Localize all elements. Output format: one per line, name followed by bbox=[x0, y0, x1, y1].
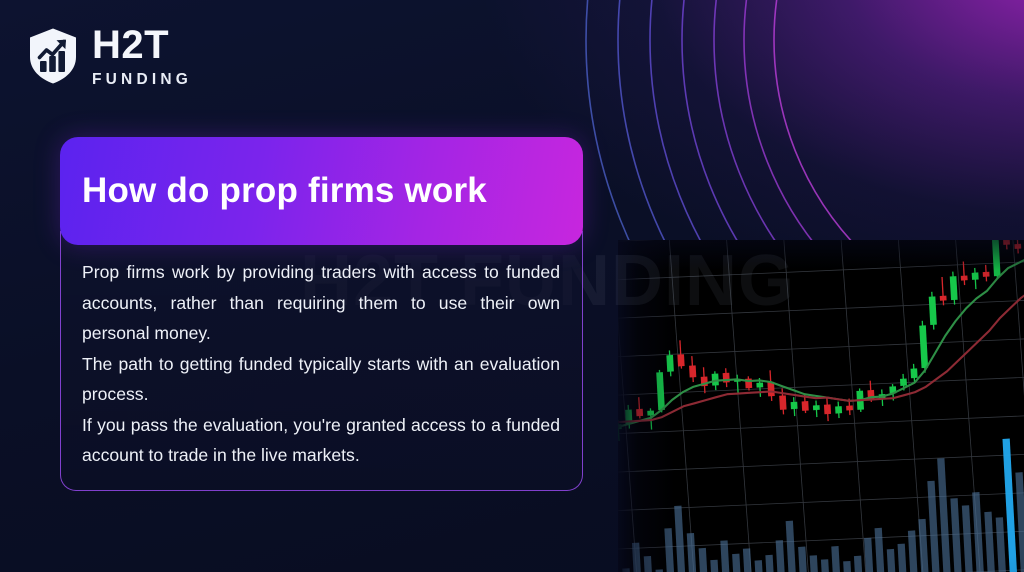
body-paragraph-3: If you pass the evaluation, you're grant… bbox=[82, 410, 560, 471]
brand-logo: H2T FUNDING bbox=[27, 25, 192, 88]
body-paragraph-1: Prop firms work by providing traders wit… bbox=[82, 257, 560, 349]
candlestick-chart-panel bbox=[618, 240, 1024, 572]
card-header: How do prop firms work bbox=[60, 137, 583, 245]
brand-name-secondary: FUNDING bbox=[92, 72, 192, 88]
candlestick-chart bbox=[618, 240, 1024, 572]
body-paragraph-2: The path to getting funded typically sta… bbox=[82, 349, 560, 410]
card-body: Prop firms work by providing traders wit… bbox=[60, 231, 583, 491]
brand-name-primary: H2T bbox=[92, 25, 192, 65]
page-title: How do prop firms work bbox=[82, 171, 487, 211]
shield-bar-chart-arrow-icon bbox=[27, 27, 79, 85]
promo-graphic: H2T FUNDING H2T FUNDING How do prop firm… bbox=[0, 0, 1024, 572]
info-card: How do prop firms work Prop firms work b… bbox=[60, 137, 583, 491]
